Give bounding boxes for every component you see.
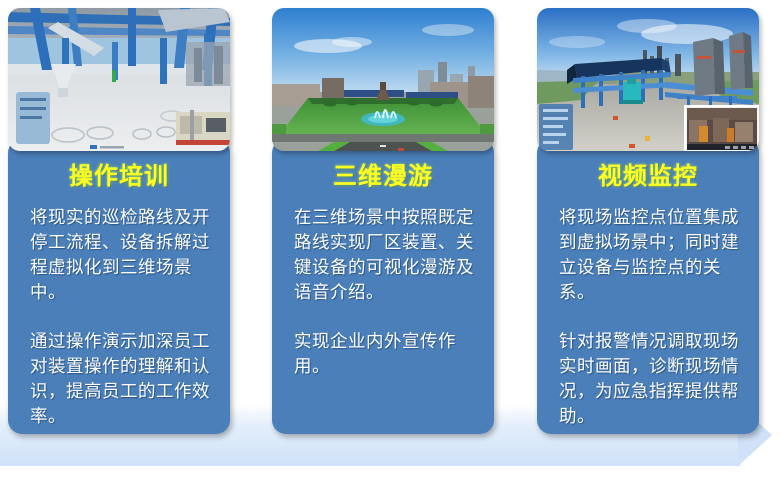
- card-paragraph: 将现实的巡检路线及开停工流程、设备拆解过程虚拟化到三维场景中。: [30, 205, 214, 305]
- card-paragraphs: 将现实的巡检路线及开停工流程、设备拆解过程虚拟化到三维场景中。 通过操作演示加深…: [8, 191, 230, 429]
- card-paragraphs: 将现场监控点位置集成到虚拟场景中；同时建立设备与监控点的关系。 针对报警情况调取…: [537, 191, 759, 429]
- plant-with-video-monitor-3d-scene-icon: [537, 8, 759, 151]
- card-image-indoor-plant-3d-scene: [8, 8, 230, 151]
- card-paragraph: 在三维场景中按照既定路线实现厂区装置、关键设备的可视化漫游及语音介绍。: [294, 205, 478, 305]
- card-image-plant-with-video-monitor-3d-scene: [537, 8, 759, 151]
- card-body: 三维漫游 在三维场景中按照既定路线实现厂区装置、关键设备的可视化漫游及语音介绍。…: [272, 139, 494, 434]
- feature-card-3d-roaming[interactable]: 三维漫游 在三维场景中按照既定路线实现厂区装置、关键设备的可视化漫游及语音介绍。…: [272, 8, 494, 434]
- feature-card-operation-training[interactable]: 操作培训 将现实的巡检路线及开停工流程、设备拆解过程虚拟化到三维场景中。 通过操…: [8, 8, 230, 434]
- card-paragraph: 实现企业内外宣传作用。: [294, 329, 478, 379]
- feature-card-video-monitoring[interactable]: 视频监控 将现场监控点位置集成到虚拟场景中；同时建立设备与监控点的关系。 针对报…: [537, 8, 759, 434]
- card-body: 视频监控 将现场监控点位置集成到虚拟场景中；同时建立设备与监控点的关系。 针对报…: [537, 139, 759, 434]
- card-paragraph: 针对报警情况调取现场实时画面，诊断现场情况，为应急指挥提供帮助。: [559, 329, 743, 429]
- card-paragraph: 通过操作演示加深员工对装置操作的理解和认识，提高员工的工作效率。: [30, 329, 214, 429]
- card-image-outdoor-campus-3d-scene: [272, 8, 494, 151]
- outdoor-campus-3d-scene-icon: [272, 8, 494, 151]
- indoor-plant-3d-scene-icon: [8, 8, 230, 151]
- card-paragraph: 将现场监控点位置集成到虚拟场景中；同时建立设备与监控点的关系。: [559, 205, 743, 305]
- card-paragraphs: 在三维场景中按照既定路线实现厂区装置、关键设备的可视化漫游及语音介绍。 实现企业…: [272, 191, 494, 379]
- card-body: 操作培训 将现实的巡检路线及开停工流程、设备拆解过程虚拟化到三维场景中。 通过操…: [8, 139, 230, 434]
